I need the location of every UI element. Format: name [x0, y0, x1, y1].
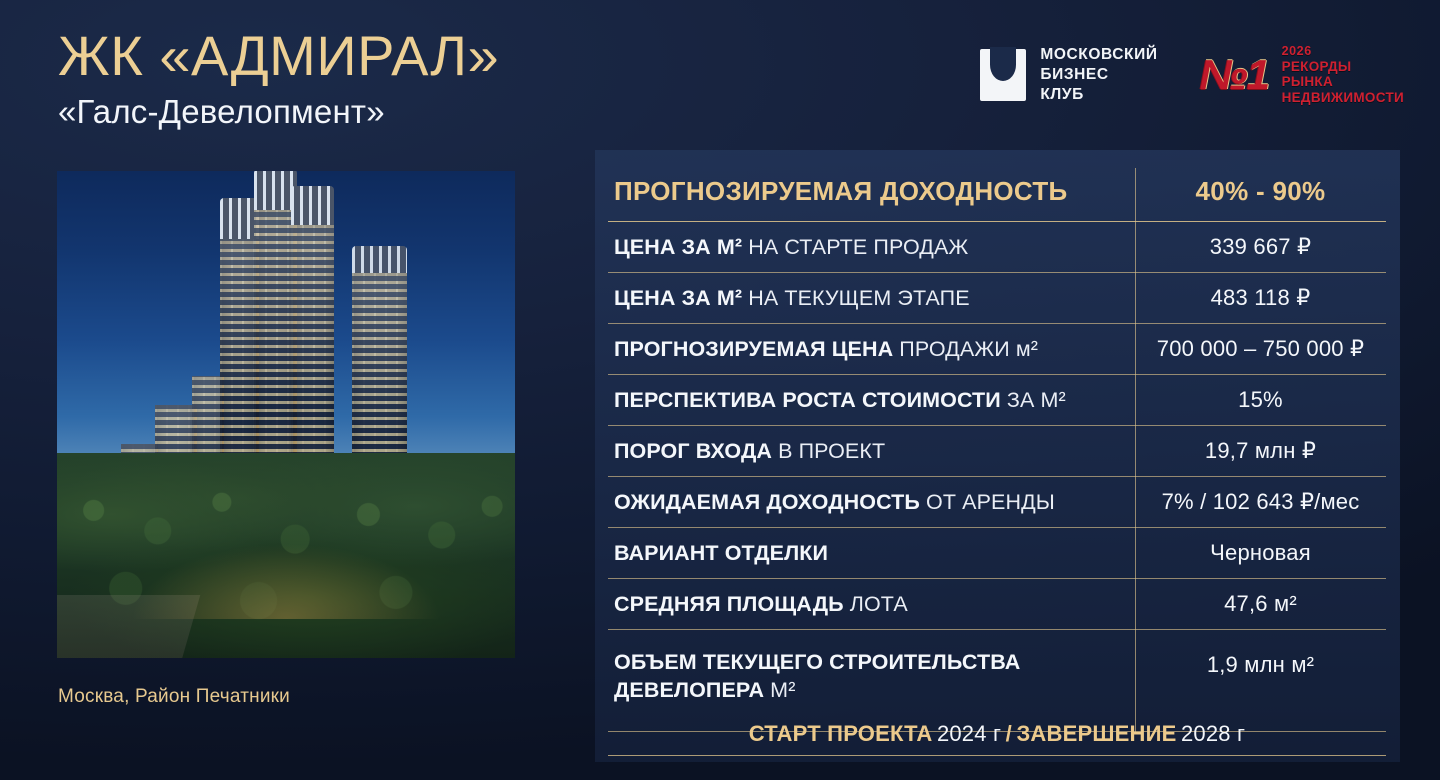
moscow-business-club-logo: МОСКОВСКИЙ БИЗНЕС КЛУБ: [980, 45, 1157, 104]
row-label-light: ПРОДАЖИ м²: [893, 337, 1038, 361]
row-value: 1,9 млн м²: [1135, 630, 1386, 685]
row-label-light: ЗА М²: [1001, 388, 1066, 412]
table-row: ПРОГНОЗИРУЕМАЯ ЦЕНА ПРОДАЖИ м² 700 000 –…: [608, 324, 1386, 375]
number-one-glyph: №1: [1200, 49, 1276, 101]
row-label: ЦЕНА ЗА М² НА СТАРТЕ ПРОДАЖ: [608, 226, 1135, 268]
timeline-separator: /: [1006, 721, 1012, 747]
table-row: ЦЕНА ЗА М² НА ТЕКУЩЕМ ЭТАПЕ 483 118 ₽: [608, 273, 1386, 324]
row-label-light: НА ТЕКУЩЕМ ЭТАПЕ: [742, 286, 970, 310]
page-title: ЖК «АДМИРАЛ»: [58, 26, 778, 86]
table-row: ВАРИАНТ ОТДЕЛКИ Черновая: [608, 528, 1386, 579]
mbk-line-2: БИЗНЕС: [1040, 65, 1157, 85]
row-label: ОБЪЕМ ТЕКУЩЕГО СТРОИТЕЛЬСТВА ДЕВЕЛОПЕРА …: [608, 630, 1135, 712]
moscow-business-club-text: МОСКОВСКИЙ БИЗНЕС КЛУБ: [1040, 45, 1157, 104]
header-label: ПРОГНОЗИРУЕМАЯ ДОХОДНОСТЬ: [608, 172, 1135, 216]
row-label-bold: ПЕРСПЕКТИВА РОСТА СТОИМОСТИ: [614, 388, 1001, 412]
title-block: ЖК «АДМИРАЛ» «Галс-Девелопмент»: [58, 26, 778, 131]
render-scene: [57, 171, 515, 658]
row-value: 15%: [1135, 380, 1386, 420]
developer-name: «Галс-Девелопмент»: [58, 94, 778, 130]
row-label: ЦЕНА ЗА М² НА ТЕКУЩЕМ ЭТАПЕ: [608, 277, 1135, 319]
location-caption: Москва, Район Печатники: [58, 686, 290, 708]
spec-table: ПРОГНОЗИРУЕМАЯ ДОХОДНОСТЬ 40% - 90% ЦЕНА…: [608, 168, 1386, 732]
row-label-bold: ЦЕНА ЗА М²: [614, 235, 742, 259]
row-value: 47,6 м²: [1135, 584, 1386, 624]
records-year: 2026: [1282, 44, 1404, 59]
row-label: ОЖИДАЕМАЯ ДОХОДНОСТЬ ОТ АРЕНДЫ: [608, 481, 1135, 523]
table-header-row: ПРОГНОЗИРУЕМАЯ ДОХОДНОСТЬ 40% - 90%: [608, 168, 1386, 222]
project-end-value: 2028 г: [1181, 721, 1245, 747]
row-label: ПОРОГ ВХОДА В ПРОЕКТ: [608, 430, 1135, 472]
presentation-slide: ЖК «АДМИРАЛ» «Галс-Девелопмент» МОСКОВСК…: [0, 0, 1440, 780]
row-label: ПРОГНОЗИРУЕМАЯ ЦЕНА ПРОДАЖИ м²: [608, 328, 1135, 370]
records-line-3: НЕДВИЖИМОСТИ: [1282, 90, 1404, 106]
row-label-bold: ПОРОГ ВХОДА: [614, 439, 772, 463]
row-label-bold: ВАРИАНТ ОТДЕЛКИ: [614, 541, 828, 565]
row-label-bold: СРЕДНЯЯ ПЛОЩАДЬ: [614, 592, 844, 616]
row-value: Черновая: [1135, 533, 1386, 573]
row-label-bold: ОБЪЕМ ТЕКУЩЕГО СТРОИТЕЛЬСТВА ДЕВЕЛОПЕРА: [614, 650, 1020, 702]
row-value: 483 118 ₽: [1135, 278, 1386, 318]
row-value: 339 667 ₽: [1135, 227, 1386, 267]
row-value: 700 000 – 750 000 ₽: [1135, 329, 1386, 369]
timeline-footer-row: СТАРТ ПРОЕКТА 2024 г / ЗАВЕРШЕНИЕ 2028 г: [608, 713, 1386, 756]
row-label-light: ОТ АРЕНДЫ: [920, 490, 1055, 514]
plaza-layer: [57, 595, 200, 658]
row-value: 19,7 млн ₽: [1135, 431, 1386, 471]
row-label-bold: ЦЕНА ЗА М²: [614, 286, 742, 310]
table-row: ОЖИДАЕМАЯ ДОХОДНОСТЬ ОТ АРЕНДЫ 7% / 102 …: [608, 477, 1386, 528]
row-label-light: В ПРОЕКТ: [772, 439, 885, 463]
records-line-2: РЫНКА: [1282, 74, 1404, 90]
project-end-label: ЗАВЕРШЕНИЕ: [1016, 721, 1176, 747]
table-row: ПОРОГ ВХОДА В ПРОЕКТ 19,7 млн ₽: [608, 426, 1386, 477]
project-start-label: СТАРТ ПРОЕКТА: [749, 721, 933, 747]
project-start-value: 2024 г: [937, 721, 1001, 747]
mbk-line-1: МОСКОВСКИЙ: [1040, 45, 1157, 65]
header-value: 40% - 90%: [1135, 174, 1386, 215]
table-row: СРЕДНЯЯ ПЛОЩАДЬ ЛОТА 47,6 м²: [608, 579, 1386, 630]
mbk-line-3: КЛУБ: [1040, 85, 1157, 105]
row-label: ВАРИАНТ ОТДЕЛКИ: [608, 532, 1135, 574]
table-row: ПЕРСПЕКТИВА РОСТА СТОИМОСТИ ЗА М² 15%: [608, 375, 1386, 426]
row-label-bold: ПРОГНОЗИРУЕМАЯ ЦЕНА: [614, 337, 893, 361]
table-row: ЦЕНА ЗА М² НА СТАРТЕ ПРОДАЖ 339 667 ₽: [608, 222, 1386, 273]
row-value: 7% / 102 643 ₽/мес: [1135, 482, 1386, 522]
row-label-light: НА СТАРТЕ ПРОДАЖ: [742, 235, 968, 259]
row-label-light: ЛОТА: [844, 592, 908, 616]
number-one-icon: №1: [1200, 49, 1276, 101]
book-mark-icon: [980, 49, 1026, 101]
building-render-image: [57, 171, 515, 658]
logo-group: МОСКОВСКИЙ БИЗНЕС КЛУБ №1 2026 РЕКОРДЫ Р…: [980, 44, 1404, 105]
records-award-logo: №1 2026 РЕКОРДЫ РЫНКА НЕДВИЖИМОСТИ: [1200, 44, 1404, 105]
row-label-light: М²: [764, 678, 795, 702]
row-label: СРЕДНЯЯ ПЛОЩАДЬ ЛОТА: [608, 583, 1135, 625]
records-line-1: РЕКОРДЫ: [1282, 59, 1404, 75]
row-label: ПЕРСПЕКТИВА РОСТА СТОИМОСТИ ЗА М²: [608, 379, 1135, 421]
records-award-text: 2026 РЕКОРДЫ РЫНКА НЕДВИЖИМОСТИ: [1282, 44, 1404, 105]
row-label-bold: ОЖИДАЕМАЯ ДОХОДНОСТЬ: [614, 490, 920, 514]
